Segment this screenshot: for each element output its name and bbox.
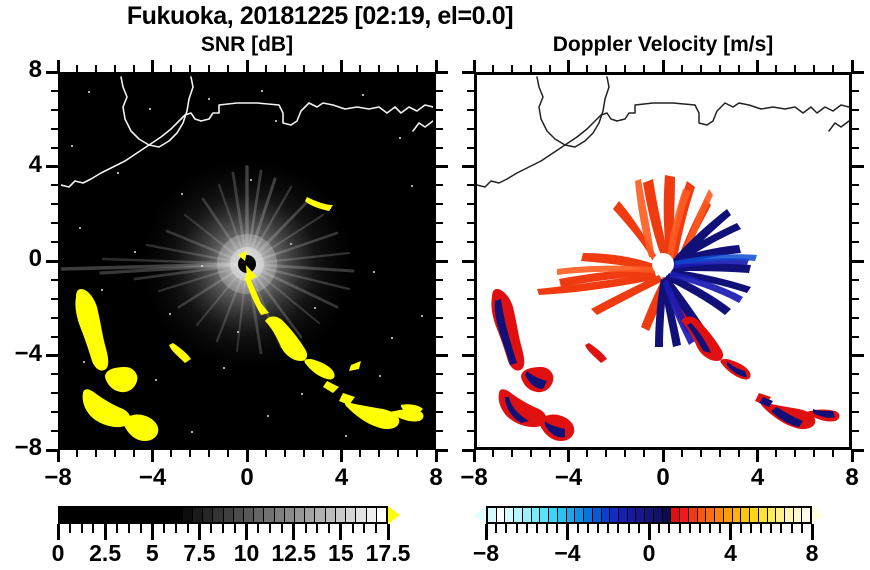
x-tick-major bbox=[662, 450, 665, 462]
x-tick-label-0-0: −8 bbox=[28, 464, 88, 492]
y-tick-minor-right bbox=[852, 147, 859, 149]
y-tick-minor-right bbox=[436, 411, 443, 413]
colorbar-segment bbox=[724, 508, 733, 522]
x-tick-minor-top bbox=[492, 65, 494, 72]
x-tick-minor-top bbox=[719, 65, 721, 72]
y-tick-minor bbox=[467, 317, 474, 319]
y-tick-minor-right bbox=[852, 317, 859, 319]
y-tick-minor bbox=[467, 90, 474, 92]
x-tick-minor-top bbox=[189, 65, 191, 72]
y-tick-major-right bbox=[852, 354, 864, 357]
y-tick-major bbox=[462, 449, 474, 452]
colorbar-tick-label: 4 bbox=[697, 540, 765, 567]
colorbar-segment bbox=[549, 508, 558, 522]
colorbar-segment bbox=[183, 508, 193, 522]
y-tick-minor-right bbox=[436, 279, 443, 281]
colorbar-segment bbox=[610, 508, 619, 522]
x-tick-major-top bbox=[435, 60, 438, 72]
y-tick-minor-right bbox=[436, 203, 443, 205]
colorbar-tick-minor bbox=[617, 524, 619, 533]
panel-subtitle-doppler: Doppler Velocity [m/s] bbox=[474, 33, 852, 57]
colorbar-segment bbox=[101, 508, 111, 522]
x-tick-minor-top bbox=[76, 65, 78, 72]
y-tick-minor bbox=[467, 336, 474, 338]
y-tick-major bbox=[462, 354, 474, 357]
x-tick-minor bbox=[133, 450, 135, 457]
x-tick-label-0-3: 4 bbox=[312, 464, 372, 492]
radar-figure: Fukuoka, 20181225 [02:19, el=0.0] SNR [d… bbox=[0, 0, 870, 570]
x-tick-minor-top bbox=[700, 65, 702, 72]
x-tick-minor-top bbox=[530, 65, 532, 72]
colorbar-segment bbox=[671, 508, 680, 522]
colorbar-segment bbox=[326, 508, 336, 522]
colorbar-tick-minor bbox=[801, 524, 803, 533]
x-tick-minor-top bbox=[813, 65, 815, 72]
x-tick-minor-top bbox=[549, 65, 551, 72]
x-tick-label-1-4: 8 bbox=[822, 464, 870, 492]
y-tick-minor-right bbox=[852, 279, 859, 281]
x-tick-minor-top bbox=[284, 65, 286, 72]
colorbar-segment bbox=[505, 508, 514, 522]
colorbar-tick-minor bbox=[363, 524, 365, 533]
plot-panel-snr[interactable] bbox=[58, 72, 436, 450]
colorbar-segment bbox=[715, 508, 724, 522]
y-tick-minor bbox=[467, 411, 474, 413]
x-tick-minor bbox=[114, 450, 116, 457]
x-tick-minor-top bbox=[133, 65, 135, 72]
colorbar-tick-minor bbox=[760, 524, 762, 533]
colorbar-tick-minor bbox=[780, 524, 782, 533]
y-tick-major bbox=[462, 260, 474, 263]
y-tick-minor-right bbox=[852, 109, 859, 111]
colorbar-tick-minor bbox=[587, 524, 589, 533]
x-tick-major bbox=[756, 450, 759, 462]
colorbar-tick-minor bbox=[628, 524, 630, 533]
y-tick-minor-right bbox=[436, 147, 443, 149]
y-tick-major-right bbox=[436, 354, 448, 357]
colorbar-tick-major bbox=[387, 524, 390, 540]
colorbar-tick-major bbox=[566, 524, 569, 540]
y-tick-minor-right bbox=[852, 373, 859, 375]
y-tick-major bbox=[46, 165, 58, 168]
x-tick-minor bbox=[189, 450, 191, 457]
x-tick-minor bbox=[530, 450, 532, 457]
x-tick-minor bbox=[719, 450, 721, 457]
x-tick-minor bbox=[511, 450, 513, 457]
y-tick-minor-right bbox=[436, 241, 443, 243]
colorbar-tick-minor bbox=[536, 524, 538, 533]
colorbar-tick-minor bbox=[577, 524, 579, 533]
colorbar-tick-minor bbox=[597, 524, 599, 533]
y-tick-label-0-0: 8 bbox=[0, 56, 42, 84]
colorbar-segment bbox=[315, 508, 325, 522]
colorbar-segment bbox=[741, 508, 750, 522]
colorbar-segment bbox=[121, 508, 131, 522]
x-tick-major bbox=[851, 450, 854, 462]
x-tick-minor bbox=[643, 450, 645, 457]
y-tick-major-right bbox=[852, 71, 864, 74]
y-tick-major-right bbox=[436, 71, 448, 74]
colorbar-segment bbox=[768, 508, 777, 522]
colorbar-segment bbox=[593, 508, 602, 522]
x-tick-minor bbox=[284, 450, 286, 457]
x-tick-major-top bbox=[662, 60, 665, 72]
colorbar-segment bbox=[628, 508, 637, 522]
colorbar-segment bbox=[602, 508, 611, 522]
colorbar-segment bbox=[523, 508, 532, 522]
colorbar-segment bbox=[264, 508, 274, 522]
colorbar-segment bbox=[80, 508, 90, 522]
colorbar-segment bbox=[776, 508, 785, 522]
y-tick-label-0-1: 4 bbox=[0, 151, 42, 179]
colorbar-segment bbox=[575, 508, 584, 522]
x-tick-label-1-3: 4 bbox=[728, 464, 788, 492]
x-tick-minor bbox=[586, 450, 588, 457]
y-tick-major-right bbox=[436, 165, 448, 168]
colorbar-tick-minor bbox=[668, 524, 670, 533]
y-tick-major bbox=[46, 71, 58, 74]
colorbar-segment bbox=[540, 508, 549, 522]
colorbar-tick-label: 8 bbox=[778, 540, 846, 567]
y-tick-minor bbox=[51, 109, 58, 111]
y-tick-minor bbox=[51, 222, 58, 224]
colorbar-segment bbox=[636, 508, 645, 522]
y-tick-minor-right bbox=[436, 222, 443, 224]
colorbar-tick-major bbox=[648, 524, 651, 540]
colorbar-tick-minor bbox=[234, 524, 236, 533]
colorbar-tick-minor bbox=[699, 524, 701, 533]
y-tick-minor bbox=[51, 317, 58, 319]
colorbar-segment bbox=[132, 508, 142, 522]
y-tick-minor-right bbox=[852, 128, 859, 130]
y-tick-minor bbox=[51, 430, 58, 432]
colorbar-tick-minor bbox=[770, 524, 772, 533]
colorbar-segment bbox=[645, 508, 654, 522]
y-tick-major-right bbox=[852, 449, 864, 452]
y-tick-minor-right bbox=[436, 392, 443, 394]
x-tick-major bbox=[435, 450, 438, 462]
y-tick-minor-right bbox=[436, 430, 443, 432]
colorbar-segment bbox=[285, 508, 295, 522]
y-tick-minor bbox=[467, 184, 474, 186]
colorbar-segment bbox=[619, 508, 628, 522]
x-tick-minor bbox=[76, 450, 78, 457]
colorbar-tick-minor bbox=[257, 524, 259, 533]
y-tick-major bbox=[462, 71, 474, 74]
colorbar-segment bbox=[488, 508, 497, 522]
x-tick-minor-top bbox=[681, 65, 683, 72]
colorbar-tick-minor bbox=[505, 524, 507, 533]
y-tick-minor bbox=[467, 241, 474, 243]
doppler-plot-canvas bbox=[477, 75, 849, 447]
colorbar-segment bbox=[142, 508, 152, 522]
colorbar-segment bbox=[584, 508, 593, 522]
colorbar-tick-minor bbox=[128, 524, 130, 533]
y-tick-minor-right bbox=[852, 184, 859, 186]
colorbar-tick-major bbox=[151, 524, 154, 540]
colorbar-segment bbox=[193, 508, 203, 522]
x-tick-label-1-1: −4 bbox=[539, 464, 599, 492]
y-tick-minor-right bbox=[436, 298, 443, 300]
colorbar-tick-minor bbox=[750, 524, 752, 533]
y-tick-minor-right bbox=[436, 336, 443, 338]
y-tick-minor bbox=[51, 411, 58, 413]
x-tick-minor-top bbox=[624, 65, 626, 72]
y-tick-major bbox=[462, 165, 474, 168]
colorbar-segment bbox=[698, 508, 707, 522]
x-tick-major-top bbox=[567, 60, 570, 72]
colorbar-tick-minor bbox=[526, 524, 528, 533]
colorbar-segment bbox=[203, 508, 213, 522]
x-tick-major bbox=[340, 450, 343, 462]
y-tick-major bbox=[46, 449, 58, 452]
x-tick-minor-top bbox=[170, 65, 172, 72]
colorbar-tick-minor bbox=[679, 524, 681, 533]
y-tick-major-right bbox=[852, 260, 864, 263]
x-tick-minor bbox=[681, 450, 683, 457]
x-tick-minor-top bbox=[208, 65, 210, 72]
colorbar-segment bbox=[70, 508, 80, 522]
x-tick-major-top bbox=[340, 60, 343, 72]
colorbar-tick-minor bbox=[69, 524, 71, 533]
colorbar-segment bbox=[305, 508, 315, 522]
x-tick-minor-top bbox=[794, 65, 796, 72]
x-tick-minor-top bbox=[511, 65, 513, 72]
y-tick-minor bbox=[51, 128, 58, 130]
x-tick-minor bbox=[832, 450, 834, 457]
x-tick-minor-top bbox=[265, 65, 267, 72]
doppler-colorbar-max-arrow bbox=[812, 506, 824, 524]
x-tick-minor bbox=[813, 450, 815, 457]
y-tick-minor bbox=[51, 392, 58, 394]
colorbar-segment bbox=[733, 508, 742, 522]
colorbar-segment bbox=[785, 508, 794, 522]
colorbar-tick-minor bbox=[328, 524, 330, 533]
y-tick-minor bbox=[51, 90, 58, 92]
colorbar-segment bbox=[706, 508, 715, 522]
colorbar-tick-minor bbox=[81, 524, 83, 533]
x-tick-minor-top bbox=[586, 65, 588, 72]
colorbar-tick-major bbox=[339, 524, 342, 540]
panel-subtitle-snr: SNR [dB] bbox=[58, 33, 436, 57]
y-tick-minor bbox=[51, 203, 58, 205]
colorbar-tick-label: 0 bbox=[615, 540, 683, 567]
y-tick-minor bbox=[467, 147, 474, 149]
colorbar-segment bbox=[532, 508, 541, 522]
doppler-colorbar-min-arrow bbox=[474, 506, 486, 524]
colorbar-tick-minor bbox=[92, 524, 94, 533]
y-tick-label-0-4: −8 bbox=[0, 434, 42, 462]
colorbar-segment bbox=[224, 508, 234, 522]
y-tick-major-right bbox=[436, 449, 448, 452]
colorbar-segment bbox=[680, 508, 689, 522]
colorbar-tick-minor bbox=[740, 524, 742, 533]
colorbar-segment bbox=[111, 508, 121, 522]
y-tick-minor-right bbox=[436, 128, 443, 130]
colorbar-segment bbox=[336, 508, 346, 522]
colorbar-tick-minor bbox=[305, 524, 307, 533]
x-tick-minor bbox=[492, 450, 494, 457]
colorbar-tick-minor bbox=[316, 524, 318, 533]
y-tick-minor-right bbox=[852, 411, 859, 413]
colorbar-tick-minor bbox=[495, 524, 497, 533]
radar-blind-zone bbox=[652, 253, 674, 275]
y-tick-major-right bbox=[852, 165, 864, 168]
colorbar-tick-minor bbox=[689, 524, 691, 533]
colorbar-tick-minor bbox=[222, 524, 224, 533]
x-tick-minor-top bbox=[397, 65, 399, 72]
colorbar-segment bbox=[295, 508, 305, 522]
x-tick-minor-top bbox=[738, 65, 740, 72]
x-tick-minor bbox=[303, 450, 305, 457]
colorbar-tick-major bbox=[198, 524, 201, 540]
y-tick-minor bbox=[51, 298, 58, 300]
x-tick-minor-top bbox=[95, 65, 97, 72]
colorbar-segment bbox=[213, 508, 223, 522]
y-tick-minor bbox=[51, 373, 58, 375]
colorbar-segment bbox=[759, 508, 768, 522]
y-tick-minor bbox=[51, 279, 58, 281]
doppler-colorbar-gradient bbox=[486, 506, 812, 524]
colorbar-tick-minor bbox=[210, 524, 212, 533]
colorbar-tick-major bbox=[292, 524, 295, 540]
x-tick-minor bbox=[359, 450, 361, 457]
colorbar-segment bbox=[172, 508, 182, 522]
colorbar-tick-minor bbox=[546, 524, 548, 533]
x-tick-minor bbox=[549, 450, 551, 457]
colorbar-segment bbox=[377, 508, 386, 522]
x-tick-minor-top bbox=[114, 65, 116, 72]
y-tick-label-0-2: 0 bbox=[0, 245, 42, 273]
y-tick-minor-right bbox=[436, 184, 443, 186]
y-tick-minor-right bbox=[436, 373, 443, 375]
colorbar-segment bbox=[689, 508, 698, 522]
x-tick-label-0-2: 0 bbox=[217, 464, 277, 492]
x-tick-major-top bbox=[151, 60, 154, 72]
y-tick-minor bbox=[51, 336, 58, 338]
y-tick-minor-right bbox=[852, 298, 859, 300]
x-tick-minor bbox=[738, 450, 740, 457]
colorbar-segment bbox=[558, 508, 567, 522]
x-tick-minor-top bbox=[416, 65, 418, 72]
colorbar-tick-label: 17.5 bbox=[354, 540, 422, 567]
x-tick-minor bbox=[378, 450, 380, 457]
x-tick-minor-top bbox=[832, 65, 834, 72]
y-tick-minor bbox=[467, 279, 474, 281]
snr-colorbar-gradient bbox=[58, 506, 388, 524]
x-tick-minor bbox=[775, 450, 777, 457]
y-tick-major bbox=[46, 260, 58, 263]
x-tick-major-top bbox=[756, 60, 759, 72]
colorbar-tick-minor bbox=[791, 524, 793, 533]
colorbar-tick-minor bbox=[352, 524, 354, 533]
x-tick-minor-top bbox=[322, 65, 324, 72]
colorbar-tick-minor bbox=[607, 524, 609, 533]
colorbar-tick-minor bbox=[516, 524, 518, 533]
colorbar-tick-minor bbox=[556, 524, 558, 533]
x-tick-major bbox=[567, 450, 570, 462]
x-tick-minor bbox=[416, 450, 418, 457]
plot-panel-doppler[interactable] bbox=[474, 72, 852, 450]
colorbar-tick-minor bbox=[375, 524, 377, 533]
y-tick-minor bbox=[467, 430, 474, 432]
colorbar-segment bbox=[663, 508, 672, 522]
colorbar-tick-major bbox=[729, 524, 732, 540]
y-tick-minor-right bbox=[852, 222, 859, 224]
colorbar-tick-minor bbox=[638, 524, 640, 533]
colorbar-tick-minor bbox=[658, 524, 660, 533]
snr-plot-canvas bbox=[61, 75, 433, 447]
y-tick-major-right bbox=[436, 260, 448, 263]
colorbar-segment bbox=[514, 508, 523, 522]
doppler-colorbar[interactable] bbox=[474, 506, 836, 524]
x-tick-minor-top bbox=[605, 65, 607, 72]
y-tick-minor-right bbox=[852, 430, 859, 432]
colorbar-segment bbox=[750, 508, 759, 522]
y-tick-minor bbox=[467, 222, 474, 224]
y-tick-minor-right bbox=[436, 90, 443, 92]
x-tick-minor-top bbox=[359, 65, 361, 72]
x-tick-major bbox=[57, 450, 60, 462]
y-tick-minor-right bbox=[852, 392, 859, 394]
colorbar-segment bbox=[567, 508, 576, 522]
colorbar-segment bbox=[497, 508, 506, 522]
y-tick-minor bbox=[467, 109, 474, 111]
colorbar-tick-minor bbox=[175, 524, 177, 533]
colorbar-tick-major bbox=[485, 524, 488, 540]
colorbar-tick-major bbox=[104, 524, 107, 540]
x-tick-minor-top bbox=[643, 65, 645, 72]
y-tick-minor-right bbox=[436, 317, 443, 319]
colorbar-segment bbox=[275, 508, 285, 522]
colorbar-tick-major bbox=[811, 524, 814, 540]
colorbar-tick-label: −8 bbox=[452, 540, 520, 567]
snr-colorbar[interactable] bbox=[58, 506, 398, 524]
x-tick-minor-top bbox=[303, 65, 305, 72]
x-tick-major-top bbox=[851, 60, 854, 72]
x-tick-minor bbox=[605, 450, 607, 457]
colorbar-tick-minor bbox=[269, 524, 271, 533]
x-tick-minor bbox=[208, 450, 210, 457]
x-tick-minor-top bbox=[227, 65, 229, 72]
x-tick-minor bbox=[170, 450, 172, 457]
y-tick-minor bbox=[51, 147, 58, 149]
y-tick-minor-right bbox=[852, 90, 859, 92]
colorbar-tick-minor bbox=[187, 524, 189, 533]
x-tick-minor bbox=[794, 450, 796, 457]
x-tick-minor bbox=[700, 450, 702, 457]
colorbar-segment bbox=[802, 508, 810, 522]
x-tick-minor bbox=[95, 450, 97, 457]
colorbar-segment bbox=[244, 508, 254, 522]
colorbar-segment bbox=[254, 508, 264, 522]
y-tick-minor-right bbox=[436, 109, 443, 111]
x-tick-minor-top bbox=[378, 65, 380, 72]
y-tick-minor-right bbox=[852, 336, 859, 338]
y-tick-minor bbox=[51, 184, 58, 186]
y-tick-major bbox=[46, 354, 58, 357]
y-tick-minor bbox=[467, 128, 474, 130]
x-tick-major bbox=[246, 450, 249, 462]
colorbar-tick-minor bbox=[709, 524, 711, 533]
colorbar-segment bbox=[654, 508, 663, 522]
page-title: Fukuoka, 20181225 [02:19, el=0.0] bbox=[0, 2, 640, 31]
y-tick-minor bbox=[467, 298, 474, 300]
y-tick-minor bbox=[467, 392, 474, 394]
x-tick-major bbox=[151, 450, 154, 462]
colorbar-segment bbox=[346, 508, 356, 522]
colorbar-tick-minor bbox=[140, 524, 142, 533]
